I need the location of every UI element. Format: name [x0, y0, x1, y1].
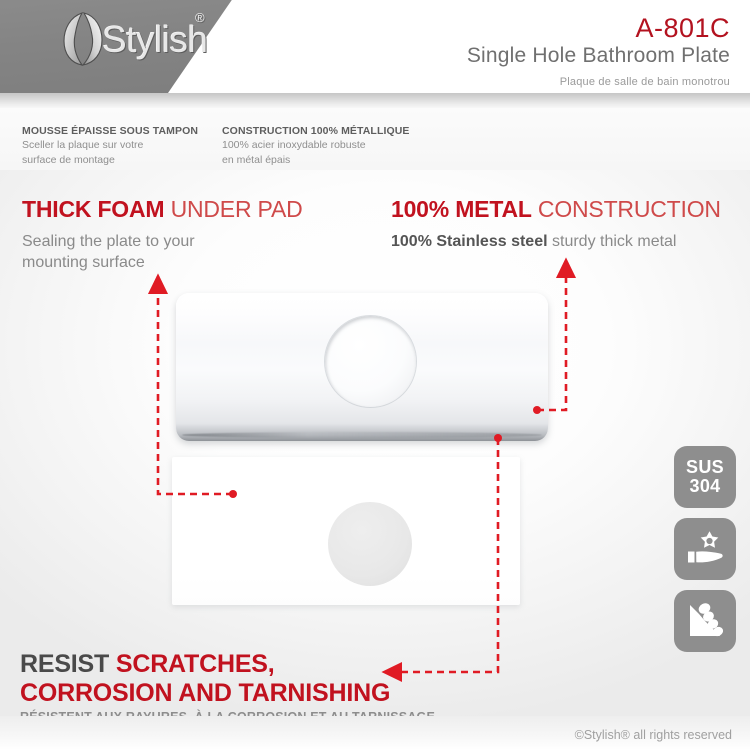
water-repellent-droplets-icon: [683, 599, 727, 643]
badge-text-line: 304: [686, 477, 724, 496]
stylish-s-leaf-logo-icon: [62, 11, 104, 67]
spec-line: surface de montage: [22, 153, 198, 167]
spec-title: MOUSSE ÉPAISSE SOUS TAMPON: [22, 124, 198, 138]
spec-line: en métal épais: [222, 153, 410, 167]
feature-resist-scratches: RESIST SCRATCHES, CORROSION AND TARNISHI…: [20, 650, 435, 724]
feature-thick-foam: THICK FOAM UNDER PAD Sealing the plate t…: [22, 196, 303, 274]
certification-badges: SUS 304: [674, 446, 736, 652]
feature-metal-construction: 100% METAL CONSTRUCTION 100% Stainless s…: [391, 196, 721, 252]
feature-heading-line: RESIST SCRATCHES,: [20, 650, 435, 679]
brand-logo: Stylish ®: [62, 8, 252, 70]
spec-line: 100% acier inoxydable robuste: [222, 138, 410, 152]
feature-subtext: 100% Stainless steel sturdy thick metal: [391, 231, 721, 253]
header: Stylish ® A-801C Single Hole Bathroom Pl…: [0, 0, 750, 95]
feature-heading: THICK FOAM UNDER PAD: [22, 196, 303, 224]
feature-heading-gray: RESIST: [20, 650, 109, 678]
feature-heading-strong: THICK FOAM: [22, 196, 164, 222]
spec-column-metal: CONSTRUCTION 100% MÉTALLIQUE 100% acier …: [222, 124, 410, 167]
badge-text: SUS 304: [686, 458, 724, 496]
feature-heading: 100% METAL CONSTRUCTION: [391, 196, 721, 224]
model-code: A-801C: [467, 14, 730, 42]
hand-holding-star-icon: [683, 527, 727, 571]
product-title: Single Hole Bathroom Plate: [467, 42, 730, 70]
feature-subtext-line: mounting surface: [22, 252, 303, 274]
copyright-text: ©Stylish® all rights reserved: [575, 728, 732, 742]
feature-heading-red: CORROSION AND TARNISHING: [20, 679, 390, 707]
quality-badge: [674, 518, 736, 580]
badge-text-line: SUS: [686, 458, 724, 477]
feature-heading-line: CORROSION AND TARNISHING: [20, 679, 435, 708]
single-faucet-hole-metal: [325, 316, 416, 407]
feature-subtext-bold: 100% Stainless steel: [391, 233, 548, 250]
water-repellent-badge: [674, 590, 736, 652]
brand-registered-mark: ®: [195, 10, 205, 25]
brand-wordmark: Stylish: [102, 21, 207, 58]
product-title-fr: Plaque de salle de bain monotrou: [467, 76, 730, 88]
header-titles: A-801C Single Hole Bathroom Plate Plaque…: [467, 14, 730, 88]
spec-title: CONSTRUCTION 100% MÉTALLIQUE: [222, 124, 410, 138]
feature-subtext-line: Sealing the plate to your: [22, 231, 303, 253]
single-faucet-hole-foam: [328, 502, 412, 586]
header-divider-band: [0, 93, 750, 108]
feature-heading-strong: 100% METAL: [391, 196, 532, 222]
feature-heading-light: CONSTRUCTION: [538, 196, 721, 222]
feature-subtext-rest: sturdy thick metal: [552, 233, 676, 250]
spec-line: Sceller la plaque sur votre: [22, 138, 198, 152]
sus-304-badge: SUS 304: [674, 446, 736, 508]
product-infographic: Stylish ® A-801C Single Hole Bathroom Pl…: [0, 0, 750, 750]
spec-column-foam: MOUSSE ÉPAISSE SOUS TAMPON Sceller la pl…: [22, 124, 198, 167]
french-spec-strip: MOUSSE ÉPAISSE SOUS TAMPON Sceller la pl…: [0, 108, 750, 170]
feature-heading-light: UNDER PAD: [171, 196, 303, 222]
feature-subtext: Sealing the plate to your mounting surfa…: [22, 231, 303, 274]
feature-heading-red: SCRATCHES,: [116, 650, 275, 678]
